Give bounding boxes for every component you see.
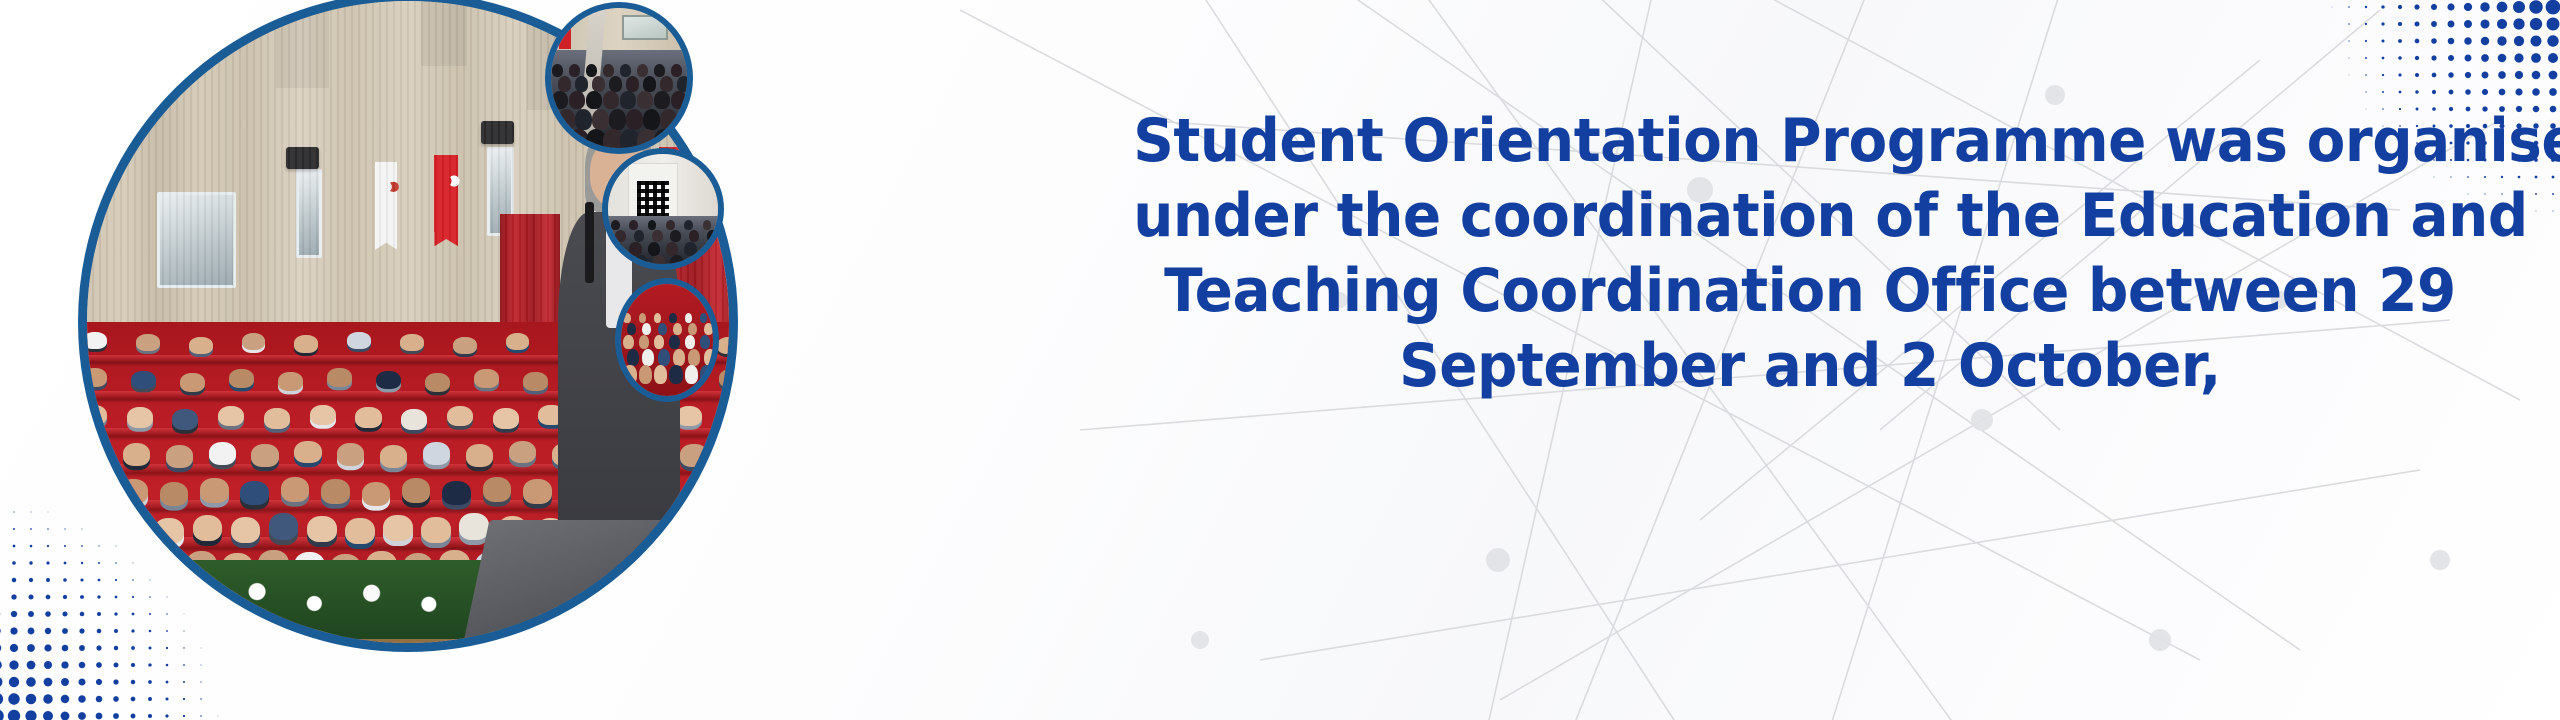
audience-member <box>229 369 254 388</box>
audience-member <box>218 406 244 427</box>
audience-member <box>626 109 643 130</box>
audience-member <box>421 517 451 543</box>
audience-member <box>660 109 677 130</box>
audience-member <box>78 550 108 578</box>
audience-member <box>383 515 413 541</box>
audience-member <box>685 477 714 501</box>
audience-member <box>703 220 712 230</box>
flower-arrangement <box>118 560 527 639</box>
audience-member <box>327 368 352 387</box>
hall-window <box>157 192 236 288</box>
audience-member <box>558 109 575 130</box>
audience-member <box>717 337 738 354</box>
qr-code-icon <box>637 181 669 218</box>
audience-member <box>654 91 669 109</box>
audience-member <box>666 242 678 256</box>
audience-member <box>658 349 670 365</box>
audience-member <box>615 230 626 242</box>
audience-member <box>127 407 153 428</box>
audience-member <box>209 442 236 465</box>
audience-member <box>294 441 321 464</box>
audience-member <box>627 349 639 365</box>
audience-member <box>459 513 489 539</box>
audience-member <box>575 109 592 130</box>
audience-member <box>466 444 493 467</box>
audience-member <box>242 333 266 350</box>
audience-member <box>639 335 649 349</box>
small-photo-audience <box>615 278 719 402</box>
audience-member <box>648 242 660 256</box>
audience-member <box>474 369 499 388</box>
audience-member <box>552 64 563 77</box>
audience-member <box>728 551 738 579</box>
audience-member <box>376 371 401 390</box>
audience-member <box>620 64 631 77</box>
audience-member <box>707 230 718 242</box>
audience-member <box>669 313 676 323</box>
audience-member <box>729 589 738 619</box>
audience-member <box>251 444 278 467</box>
hall-window <box>487 147 513 236</box>
audience-member <box>453 337 477 354</box>
audience-member <box>609 109 626 130</box>
audience-member <box>654 365 667 384</box>
ceiling-speaker <box>481 121 514 143</box>
audience-member <box>685 335 695 349</box>
headline-line-4: September and 2 October, <box>1133 329 2487 404</box>
audience-member <box>180 373 205 392</box>
audience-member <box>83 332 107 349</box>
audience-member <box>684 242 696 256</box>
audience-member <box>116 516 146 542</box>
audience-member <box>278 372 303 391</box>
audience-member <box>355 407 381 428</box>
audience-member <box>240 481 269 505</box>
audience-member <box>402 478 431 502</box>
audience-member <box>592 109 609 130</box>
audience-member <box>626 76 639 91</box>
audience-member <box>119 479 148 503</box>
audience-member <box>123 443 150 466</box>
audience-member <box>569 91 584 109</box>
audience-member <box>719 369 738 388</box>
audience-member <box>673 349 685 365</box>
seat-row <box>78 645 738 652</box>
audience-member <box>569 64 580 77</box>
audience-member <box>200 478 229 502</box>
audience-member <box>685 365 698 384</box>
audience-member <box>321 479 350 503</box>
audience-member <box>586 64 597 77</box>
hall-window <box>296 169 322 258</box>
audience-member <box>623 313 630 323</box>
audience-member <box>603 91 618 109</box>
audience-member <box>648 220 657 230</box>
audience-member <box>592 76 605 91</box>
audience-member <box>337 443 364 466</box>
audience-member <box>362 482 391 506</box>
audience-member <box>721 408 738 429</box>
audience-member <box>78 513 108 539</box>
audience-member <box>669 365 682 384</box>
audience-member <box>627 323 636 335</box>
audience-member <box>725 479 738 503</box>
audience-member <box>703 242 715 256</box>
audience-member <box>552 91 567 109</box>
audience-member <box>677 76 690 91</box>
audience-member <box>264 408 290 429</box>
audience-member <box>688 349 700 365</box>
audience-member <box>704 349 716 365</box>
audience-member <box>294 335 318 352</box>
audience-member <box>652 255 666 270</box>
headline-line-3: Teaching Coordination Office between 29 <box>1133 254 2487 329</box>
audience-member <box>425 373 450 392</box>
audience-member <box>231 517 261 543</box>
audience-member <box>81 405 107 426</box>
audience-member <box>189 337 213 354</box>
audience-member <box>634 230 645 242</box>
institution-pennant <box>375 162 397 236</box>
audience-member <box>166 445 193 468</box>
audience-member <box>671 64 682 77</box>
ceiling-speaker <box>286 147 319 169</box>
audience-member <box>603 64 614 77</box>
audience-member <box>620 91 635 109</box>
banner-headline: Student Orientation Programme was organi… <box>1090 104 2530 404</box>
audience-member <box>623 335 633 349</box>
audience-member <box>700 365 713 384</box>
audience-member <box>689 230 700 242</box>
small-photo-presentation <box>602 148 724 270</box>
audience-member <box>639 313 646 323</box>
audience-member <box>642 349 654 365</box>
audience-member <box>269 513 299 539</box>
audience-member <box>136 334 160 351</box>
audience-member <box>684 220 693 230</box>
audience-member <box>654 64 665 77</box>
audience-member <box>401 409 427 430</box>
audience-member <box>523 372 548 391</box>
audience-member <box>79 477 108 501</box>
audience-member <box>611 220 620 230</box>
audience-member <box>400 334 424 351</box>
audience-member <box>704 323 713 335</box>
audience-member <box>723 441 738 464</box>
turkish-flag <box>434 155 458 233</box>
audience-member <box>643 76 656 91</box>
stage-monitor <box>459 520 738 652</box>
audience-member <box>671 91 686 109</box>
audience-member <box>347 332 371 349</box>
audience-member <box>307 516 337 542</box>
audience-member <box>639 365 652 384</box>
audience-member <box>345 518 375 544</box>
audience-member <box>730 622 738 652</box>
audience-member <box>447 406 473 427</box>
audience-member <box>380 445 407 468</box>
audience-member <box>154 518 184 544</box>
audience-member <box>629 242 641 256</box>
audience-member <box>281 477 310 501</box>
audience-member <box>685 313 692 323</box>
audience-member <box>160 482 189 506</box>
audience-member <box>643 109 660 130</box>
audience-member <box>172 409 198 430</box>
audience-member <box>509 441 536 464</box>
small-photo-lecture-hall <box>545 2 693 154</box>
audience-member <box>131 371 156 390</box>
audience-member <box>660 76 673 91</box>
audience-member <box>193 515 223 541</box>
audience-member <box>310 405 336 426</box>
microphone-icon <box>585 202 594 282</box>
audience-member <box>670 230 681 242</box>
audience-member <box>629 220 638 230</box>
event-banner: Student Orientation Programme was organi… <box>0 0 2560 720</box>
audience-member <box>673 323 682 335</box>
audience-member <box>483 477 512 501</box>
audience-member <box>423 442 450 465</box>
audience-member <box>442 481 471 505</box>
audience-member <box>80 441 107 464</box>
audience-member <box>658 323 667 335</box>
audience-member <box>623 365 636 384</box>
audience-member <box>669 335 679 349</box>
audience-member <box>652 230 663 242</box>
audience-member <box>558 76 571 91</box>
audience-member <box>506 333 530 350</box>
audience-member <box>611 242 623 256</box>
audience-member <box>666 220 675 230</box>
audience-member <box>523 479 552 503</box>
headline-line-1: Student Orientation Programme was organi… <box>1133 104 2487 179</box>
audience-member <box>609 76 622 91</box>
audience-member <box>575 76 588 91</box>
headline-line-2: under the coordination of the Education … <box>1133 179 2487 254</box>
audience-member <box>637 64 648 77</box>
audience-member <box>493 408 519 429</box>
audience-member <box>586 91 601 109</box>
audience-member <box>637 91 652 109</box>
audience-member <box>82 368 107 387</box>
